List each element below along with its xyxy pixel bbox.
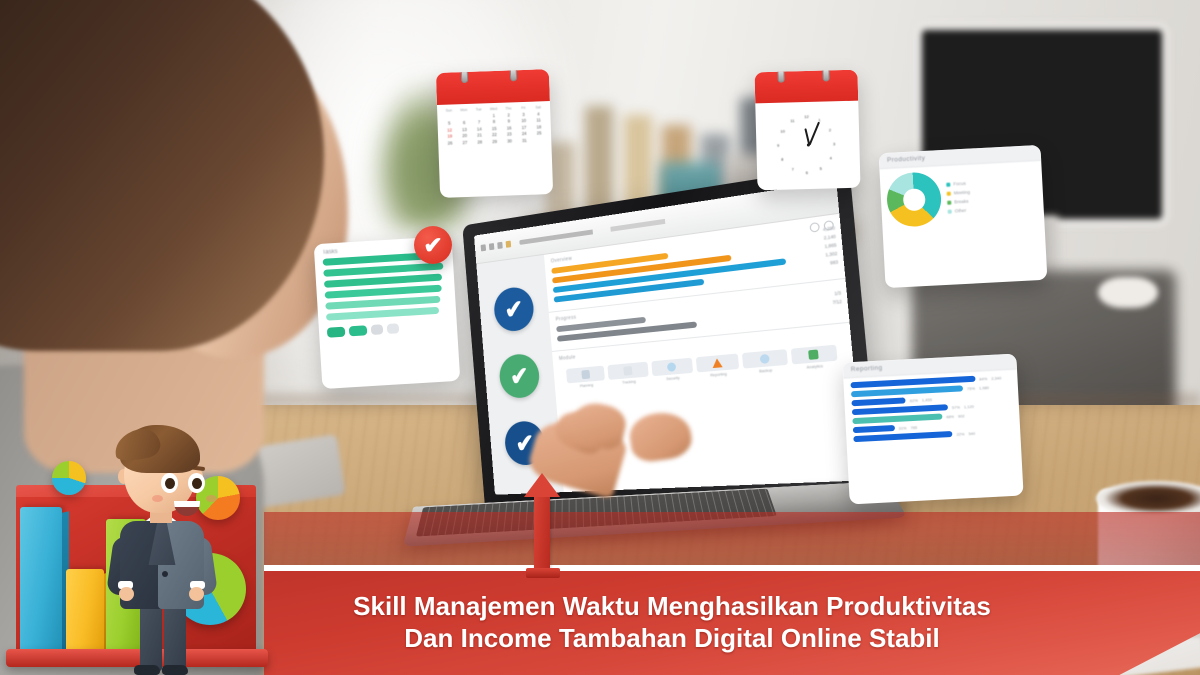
barlist-rows: 84%2,34075%1,98062%1,45557%1,12048%90231… xyxy=(843,369,1020,449)
calendar-day[interactable] xyxy=(457,114,471,119)
calendar-dow[interactable]: Fri xyxy=(517,106,531,110)
icon-glyph[interactable] xyxy=(667,362,676,372)
calendar-day[interactable]: 5 xyxy=(443,121,457,126)
clock-tick[interactable]: 8 xyxy=(781,157,783,162)
clock-tick[interactable]: 5 xyxy=(820,166,822,171)
clock-minute-hand xyxy=(808,122,819,146)
delete-button[interactable] xyxy=(387,323,400,334)
mascot-mouth xyxy=(174,501,200,516)
mascot-leg-left xyxy=(140,605,162,671)
banner-white-divider xyxy=(264,565,1200,571)
calendar-day[interactable]: 22 xyxy=(488,132,502,137)
legend-label[interactable]: Focus xyxy=(953,180,966,186)
legend-swatch[interactable] xyxy=(948,209,952,213)
poster-canvas: ✔✔✔ Overview 4,2902,1401,8651,302983 Pro… xyxy=(0,0,1200,675)
legend-swatch[interactable] xyxy=(947,200,951,204)
barlist-bar[interactable] xyxy=(851,397,906,406)
clock-tick[interactable]: 1 xyxy=(818,118,820,123)
donut-chart-card[interactable]: Productivity FocusMeetingBreaksOther xyxy=(879,144,1048,287)
calendar-day[interactable] xyxy=(442,114,456,119)
data-value[interactable]: 7/12 xyxy=(832,298,842,304)
data-value[interactable]: 2,140 xyxy=(824,233,837,240)
calendar-day[interactable]: 30 xyxy=(503,138,517,143)
barlist-value[interactable]: 902 xyxy=(958,413,965,418)
mascot-jacket-button xyxy=(162,571,168,577)
warning-icon[interactable]: Reporting xyxy=(696,353,740,378)
donut-legend-row[interactable]: Breaks xyxy=(947,198,971,204)
calendar-day[interactable] xyxy=(533,137,547,142)
clock-center-pin xyxy=(806,144,809,147)
chart-icon[interactable]: Analytics xyxy=(790,344,838,370)
clock-tick[interactable]: 3 xyxy=(833,142,835,147)
barlist-bar[interactable] xyxy=(853,425,895,433)
barlist-label[interactable]: 84% xyxy=(979,375,987,380)
calendar-day[interactable]: 6 xyxy=(457,120,471,125)
data-value[interactable]: 983 xyxy=(826,259,839,266)
mascot-cheek-right xyxy=(206,495,217,502)
calendar-day[interactable] xyxy=(472,113,486,118)
donut-legend-row[interactable]: Focus xyxy=(946,180,970,186)
icon-glyph[interactable] xyxy=(712,358,723,368)
edit-button[interactable] xyxy=(371,324,384,335)
calendar-dow[interactable]: Sat xyxy=(531,106,545,110)
clock-header xyxy=(754,70,858,103)
progress-values: 1/37/12 xyxy=(831,290,842,305)
calendar-day[interactable]: 11 xyxy=(532,118,546,123)
cloud-icon[interactable]: Backup xyxy=(742,349,788,375)
arrow-head xyxy=(524,473,560,497)
checklist-buttons[interactable] xyxy=(319,316,458,343)
calendar-day[interactable]: 12 xyxy=(443,127,457,132)
clock-face: 121234567891011 xyxy=(755,100,860,190)
arrow-stem xyxy=(534,485,550,571)
calendar-day[interactable]: 10 xyxy=(517,118,531,123)
barlist-label[interactable]: 48% xyxy=(946,413,954,418)
calendar-day[interactable]: 4 xyxy=(532,111,546,116)
calendar-day[interactable]: 17 xyxy=(517,125,531,130)
task-complete-badge[interactable]: ✔ xyxy=(493,285,536,333)
calendar-day[interactable]: 24 xyxy=(517,131,531,136)
legend-label[interactable]: Other xyxy=(955,207,967,213)
barlist-value[interactable]: 1,455 xyxy=(922,396,932,402)
mascot-cheek-left xyxy=(152,495,163,502)
calendar-day[interactable]: 27 xyxy=(458,140,472,145)
calendar-ring-right xyxy=(510,69,518,81)
barlist-label[interactable]: 75% xyxy=(967,385,975,390)
calendar-day[interactable]: 23 xyxy=(503,132,517,137)
icon-label[interactable]: Tracking xyxy=(609,378,649,385)
barlist-card[interactable]: Reporting 84%2,34075%1,98062%1,45557%1,1… xyxy=(842,353,1023,504)
clock-tick[interactable]: 4 xyxy=(830,156,832,161)
calendar-day[interactable]: 16 xyxy=(502,125,516,130)
calendar-day[interactable]: 3 xyxy=(517,112,531,117)
shield-icon[interactable]: Security xyxy=(651,357,694,382)
title-line-1: Skill Manajemen Waktu Menghasilkan Produ… xyxy=(342,591,1002,623)
icon-glyph[interactable] xyxy=(581,369,590,378)
calendar-card[interactable]: SunMonTueWedThuFriSat1234567891011121314… xyxy=(436,69,553,198)
donut-content: FocusMeetingBreaksOther xyxy=(879,160,1044,232)
bar-yellow xyxy=(66,569,104,649)
bar-blue xyxy=(20,507,62,649)
clock-ring-left xyxy=(777,70,784,83)
barlist-value[interactable]: 2,340 xyxy=(991,375,1001,381)
mascot-leg-right xyxy=(164,605,186,671)
calendar-grid[interactable]: SunMonTueWedThuFriSat1234567891011121314… xyxy=(437,101,551,149)
banner-body: Skill Manajemen Waktu Menghasilkan Produ… xyxy=(264,571,1200,675)
banner-translucent-band xyxy=(264,512,1200,568)
barlist-value[interactable]: 1,980 xyxy=(979,384,989,390)
laptop: ✔✔✔ Overview 4,2902,1401,8651,302983 Pro… xyxy=(450,196,858,507)
calendar-day[interactable]: 13 xyxy=(458,127,472,132)
icon-tile[interactable] xyxy=(742,349,787,368)
icon-label[interactable]: Security xyxy=(653,374,694,381)
calendar-dow[interactable]: Thu xyxy=(502,107,516,111)
barlist-value[interactable]: 1,120 xyxy=(964,403,974,409)
icon-glyph[interactable] xyxy=(808,349,819,359)
mascot-eye-right xyxy=(188,473,205,493)
mascot-shoe-left xyxy=(134,665,160,675)
calendar-day[interactable]: 14 xyxy=(473,126,487,131)
title-line-2: Dan Income Tambahan Digital Online Stabi… xyxy=(342,623,1002,655)
data-value[interactable]: 1/3 xyxy=(831,290,841,296)
barlist-bar[interactable] xyxy=(853,431,952,442)
clock-card[interactable]: 121234567891011 xyxy=(754,70,860,191)
mascot-pupil-right xyxy=(192,478,202,489)
calendar-dow[interactable]: Tue xyxy=(472,108,486,112)
donut-legend-row[interactable]: Meeting xyxy=(947,189,971,195)
check-button[interactable] xyxy=(349,325,368,336)
calendar-day[interactable]: 9 xyxy=(502,119,516,124)
folder-icon[interactable]: Planning xyxy=(566,365,606,389)
calendar-header xyxy=(436,69,550,105)
clock-tick[interactable]: 6 xyxy=(806,170,808,175)
icon-glyph[interactable] xyxy=(760,353,770,363)
clock-tick[interactable]: 2 xyxy=(829,128,831,133)
home-icon[interactable] xyxy=(506,241,512,248)
page-title: Skill Manajemen Waktu Menghasilkan Produ… xyxy=(342,591,1002,654)
barlist-value[interactable]: 765 xyxy=(910,424,917,429)
icon-tile[interactable] xyxy=(566,365,605,383)
clock-ring-right xyxy=(822,70,829,82)
data-value[interactable]: 1,865 xyxy=(824,242,837,249)
calendar-day[interactable]: 8 xyxy=(487,119,501,124)
barlist-label[interactable]: 31% xyxy=(898,425,906,430)
archive-icon[interactable]: Tracking xyxy=(608,361,649,385)
icon-tile[interactable] xyxy=(651,357,693,376)
mascot-hand-left xyxy=(119,587,134,601)
icon-tile[interactable] xyxy=(608,361,649,379)
calendar-day[interactable]: 26 xyxy=(443,140,457,145)
data-value[interactable]: 1,302 xyxy=(825,250,838,257)
calendar-day[interactable]: 1 xyxy=(487,113,501,118)
calendar-day[interactable]: 2 xyxy=(502,112,516,117)
mascot-hand-right xyxy=(189,587,204,601)
clock-tick[interactable]: 10 xyxy=(780,129,785,134)
clock-tick[interactable]: 9 xyxy=(777,143,779,148)
icon-glyph[interactable] xyxy=(623,366,632,376)
mascot-eye-left xyxy=(161,473,178,493)
checkmark-badge: ✔ xyxy=(414,226,452,264)
clock-tick[interactable]: 11 xyxy=(790,118,794,123)
legend-label[interactable]: Meeting xyxy=(954,189,971,195)
legend-swatch[interactable] xyxy=(946,182,950,186)
calendar-day[interactable]: 20 xyxy=(458,133,472,138)
calendar-day[interactable]: 18 xyxy=(532,124,546,129)
mascot-pupil-left xyxy=(165,478,175,489)
forward-icon[interactable] xyxy=(489,243,495,250)
back-icon[interactable] xyxy=(481,244,486,251)
mascot-teeth xyxy=(174,501,200,507)
barlist-value[interactable]: 540 xyxy=(968,430,975,435)
icon-label[interactable]: Planning xyxy=(567,382,605,389)
calendar-day[interactable]: 7 xyxy=(472,120,486,125)
calendar-day[interactable]: 21 xyxy=(473,133,487,138)
donut-legend-row[interactable]: Other xyxy=(948,207,972,213)
profile-icon[interactable] xyxy=(823,220,834,231)
clock-tick[interactable]: 12 xyxy=(804,114,809,119)
legend-label[interactable]: Breaks xyxy=(954,198,969,204)
reload-icon[interactable] xyxy=(497,242,503,249)
arrow-foot xyxy=(526,568,560,578)
donut-chart xyxy=(886,171,943,228)
calendar-dow[interactable]: Mon xyxy=(457,108,471,112)
legend-swatch[interactable] xyxy=(947,191,951,195)
notification-icon[interactable] xyxy=(809,222,820,233)
icon-tile[interactable] xyxy=(790,344,837,364)
calendar-day[interactable]: 31 xyxy=(518,138,532,143)
calendar-day[interactable]: 15 xyxy=(487,126,501,131)
barlist-label[interactable]: 57% xyxy=(952,404,960,409)
calendar-dow[interactable]: Wed xyxy=(487,107,501,111)
barlist-label[interactable]: 62% xyxy=(910,397,918,402)
pie-small xyxy=(52,461,86,495)
calendar-day[interactable]: 28 xyxy=(473,139,487,144)
icon-tile[interactable] xyxy=(696,353,740,372)
save-button[interactable] xyxy=(327,326,346,337)
goal-complete-badge[interactable]: ✔ xyxy=(498,352,541,399)
calendar-day[interactable]: 25 xyxy=(532,131,546,136)
donut-legend: FocusMeetingBreaksOther xyxy=(946,180,971,213)
calendar-day[interactable]: 29 xyxy=(488,139,502,144)
barlist-label[interactable]: 22% xyxy=(956,431,964,436)
clock-tick[interactable]: 7 xyxy=(792,167,794,172)
mascot-shoe-right xyxy=(162,665,188,675)
businessman-mascot xyxy=(100,425,222,675)
mascot-infographic xyxy=(0,430,300,675)
computer-mouse xyxy=(1098,277,1158,308)
calendar-day[interactable]: 19 xyxy=(443,134,457,139)
calendar-dow[interactable]: Sun xyxy=(442,109,456,113)
